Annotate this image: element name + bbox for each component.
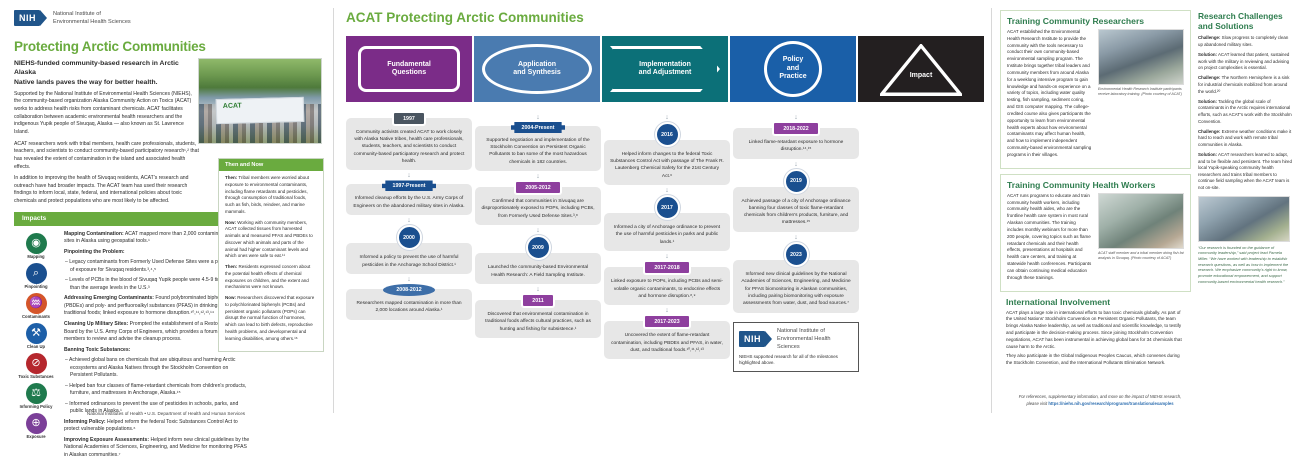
impact-icon-label: Informing Policy	[14, 404, 58, 409]
challenge-solution-entry: Challenge: Slow progress to completely c…	[1198, 35, 1293, 48]
impact-icon-item: ⌕Pinpointing	[14, 263, 58, 290]
section-title: Training Community Researchers	[1007, 16, 1184, 26]
timeline-arrow-icon: ↓	[536, 114, 540, 121]
timeline-column: ↓2018-2022Linked flame-retardant exposur…	[733, 112, 859, 372]
photo-caption: ACAT staff member and a tribal member do…	[1098, 251, 1184, 261]
impact-entry-text: – Levels of PCBs in the blood of Sivuqaq…	[65, 277, 242, 291]
then-now-entry: Now: Working with community members, ACA…	[225, 220, 317, 261]
then-now-label: Then:	[225, 175, 237, 180]
page-title: Protecting Arctic Communities	[14, 39, 324, 54]
impact-icon-item: ◉Mapping	[14, 233, 58, 260]
pamela-miller-photo	[1198, 196, 1290, 242]
nih-support-text: NIEHS supported research for all of the …	[739, 354, 853, 367]
section-body: ACAT plays a large role in international…	[1006, 310, 1185, 351]
timeline-arrow-icon: ↓	[407, 217, 411, 224]
cs-label: Challenge:	[1198, 35, 1220, 40]
process-flow-diagram: FundamentalQuestionsApplicationand Synth…	[346, 36, 988, 102]
nih-logo-line1: National Institute of	[53, 11, 101, 17]
timeline-arrow-icon: ↓	[665, 114, 669, 121]
nih-logo: NIHNational Institute ofEnvironmental He…	[739, 327, 853, 351]
impact-icon-item: ♒Contaminants	[14, 293, 58, 320]
acat-group-photo	[198, 58, 322, 144]
timeline-column: ↓2016Helped inform changes to the federa…	[604, 112, 730, 372]
timeline-year-badge[interactable]: 1997	[393, 112, 425, 125]
impact-entry-heading: Improving Exposure Assessments:	[64, 437, 149, 443]
flow-stage-impact[interactable]: Impact	[858, 36, 984, 102]
training-community-researchers-card: Training Community Researchers ACAT esta…	[1000, 10, 1191, 169]
then-now-text: Researchers discovered that exposure to …	[225, 295, 314, 341]
infographic-page: NIH National Institute of Environmental …	[0, 0, 1300, 421]
timeline-column: 1997Community activists created ACAT to …	[346, 112, 472, 372]
challenge-solution-entry: Challenge: The Northern Hemisphere is a …	[1198, 75, 1293, 95]
flow-stage-label: FundamentalQuestions	[387, 61, 431, 78]
timeline-arrow-icon: ↓	[794, 161, 798, 168]
closing-line1: For references, supplementary informatio…	[1019, 394, 1181, 399]
section-photo-col: Environmental Health Research Institute …	[1098, 29, 1184, 162]
flow-stage-fundamental[interactable]: FundamentalQuestions	[346, 36, 472, 102]
then-now-entry: Then: Residents expressed concern about …	[225, 264, 317, 291]
timeline-year-badge[interactable]: 2019	[784, 169, 809, 194]
impact-entry-text: – Achieved global bans on chemicals that…	[65, 357, 235, 378]
timeline-year-badge[interactable]: 2017-2023	[644, 315, 689, 328]
impact-entry-text: – Helped ban four classes of flame-retar…	[65, 383, 246, 397]
impact-entry: – Achieved global bans on chemicals that…	[64, 357, 252, 380]
flow-stage-implementation[interactable]: Implementationand Adjustment	[602, 36, 728, 102]
cs-label: Solution:	[1198, 52, 1217, 57]
section-text-col: ACAT runs programs to educate and train …	[1007, 193, 1093, 285]
timeline-arrow-icon: ↓	[665, 253, 669, 260]
impact-icon-label: Pinpointing	[14, 284, 58, 289]
flow-stage-label: Implementationand Adjustment	[639, 61, 692, 78]
contaminants-icon: ♒	[26, 293, 47, 314]
timeline-year-badge[interactable]: 2011	[522, 294, 554, 307]
impact-icon-label: Contaminants	[14, 314, 58, 319]
pinpointing-icon: ⌕	[26, 263, 47, 284]
timeline-arrow-icon: ↓	[536, 227, 540, 234]
timeline-year-badge[interactable]: 2017-2018	[644, 261, 689, 274]
informing-policy-icon: ⚖	[26, 383, 47, 404]
nih-mark: NIH	[14, 10, 40, 26]
timeline-arrow-icon: ↓	[794, 114, 798, 121]
training-community-health-workers-card: Training Community Health Workers ACAT r…	[1000, 174, 1191, 292]
section-flow: ACAT runs programs to educate and train …	[1007, 193, 1184, 285]
section-body: ACAT established the Environmental Healt…	[1007, 29, 1093, 159]
left-lede-line1: NIEHS-funded community-based research in…	[14, 60, 179, 76]
far-title-line1: Research Challenges	[1198, 11, 1283, 21]
then-and-now-body: Then: Tribal members were worried about …	[219, 171, 323, 351]
impact-icon-label: Mapping	[14, 254, 58, 259]
far-panel-title: Research Challenges and Solutions	[1198, 12, 1293, 31]
section-photo-col: ACAT staff member and a tribal member do…	[1098, 193, 1184, 285]
flow-stage-label: Impact	[910, 72, 933, 80]
challenge-solution-entry: Solution: ACAT researchers learned to ad…	[1198, 152, 1293, 192]
impact-entry-heading: Cleaning Up Military Sites:	[64, 321, 128, 327]
impacts-icon-rail: ◉Mapping⌕Pinpointing♒Contaminants⚒Clean …	[14, 231, 58, 463]
timeline-arrow-icon: ↓	[536, 286, 540, 293]
cs-label: Challenge:	[1198, 129, 1220, 134]
mapping-icon: ◉	[26, 233, 47, 254]
timeline-year-badge[interactable]: 1997-Present	[382, 180, 437, 191]
cs-label: Challenge:	[1198, 75, 1220, 80]
left-panel: NIH National Institute of Environmental …	[0, 0, 332, 421]
impact-icon-item: ⊕Exposure	[14, 413, 58, 440]
timeline-year-badge[interactable]: 2017	[655, 195, 680, 220]
left-footer: National Institutes of Health • U.S. Dep…	[0, 411, 332, 416]
closing-note: For references, supplementary informatio…	[1000, 394, 1200, 407]
then-now-text: Residents expressed concern about the po…	[225, 264, 310, 289]
cs-label: Solution:	[1198, 99, 1217, 104]
photo-caption: Environmental Health Research Institute …	[1098, 87, 1184, 97]
cs-label: Solution:	[1198, 152, 1217, 157]
impact-icon-item: ⚒Clean Up	[14, 323, 58, 350]
nih-mark: NIH	[739, 331, 765, 347]
center-panel: ACAT Protecting Arctic Communities Funda…	[332, 0, 994, 421]
flow-stage-application[interactable]: Applicationand Synthesis	[474, 36, 600, 102]
then-now-label: Now:	[225, 220, 236, 225]
timeline-columns: 1997Community activists created ACAT to …	[346, 112, 988, 372]
nih-logo: NIH National Institute of Environmental …	[14, 10, 324, 26]
impact-icon-item: ⊘Toxic Substances	[14, 353, 58, 380]
clean-up-icon: ⚒	[26, 323, 47, 344]
section-body-2: They also participate in the Global Indi…	[1006, 353, 1185, 367]
divider-right	[991, 8, 992, 413]
then-now-entry: Now: Researchers discovered that exposur…	[225, 295, 317, 342]
nih-logo-text: National Institute ofEnvironmental Healt…	[777, 327, 853, 351]
timeline-year-badge[interactable]: 2005-2012	[515, 181, 560, 194]
impact-entry: Improving Exposure Assessments: Helped i…	[64, 437, 252, 460]
challenge-solution-list: Challenge: Slow progress to completely c…	[1198, 35, 1293, 191]
nih-support-note: NIHNational Institute ofEnvironmental He…	[733, 322, 859, 372]
timeline-column: ↓2004-PresentSupported negotiation and i…	[475, 112, 601, 372]
lab-training-photo	[1098, 29, 1184, 85]
timeline-arrow-icon: ↓	[665, 307, 669, 314]
nih-logo-line1: National Institute of	[777, 328, 825, 334]
timeline-year-badge[interactable]: 2016	[655, 122, 680, 147]
closing-line2: please visit	[1026, 401, 1048, 406]
timeline-card[interactable]: Community activists created ACAT to work…	[346, 118, 472, 170]
timeline-year-badge[interactable]: 2004-Present	[511, 122, 566, 133]
far-title-line2: and Solutions	[1198, 21, 1253, 31]
then-now-label: Then:	[225, 264, 237, 269]
flow-stage-policy[interactable]: PolicyandPractice	[730, 36, 856, 102]
then-now-text: Working with community members, ACAT col…	[225, 220, 313, 259]
timeline-arrow-icon: ↓	[536, 173, 540, 180]
timeline-arrow-icon: ↓	[407, 172, 411, 179]
then-and-now-header: Then and Now	[219, 159, 323, 171]
impact-entry: – Helped ban four classes of flame-retar…	[64, 383, 252, 398]
flow-stage-label: PolicyandPractice	[779, 56, 806, 81]
challenge-solution-entry: Challenge: Extreme weather conditions ma…	[1198, 129, 1293, 149]
then-now-entry: Then: Tribal members were worried about …	[225, 175, 317, 216]
pull-quote: “Our research is founded on the guidance…	[1198, 245, 1293, 285]
international-involvement-card: International Involvement ACAT plays a l…	[1000, 297, 1191, 377]
left-paragraph: Supported by the National Institute of E…	[14, 91, 200, 137]
left-paragraph: In addition to improving the health of S…	[14, 175, 200, 206]
flow-stage-label: Applicationand Synthesis	[513, 61, 560, 78]
left-lede: NIEHS-funded community-based research in…	[14, 59, 200, 87]
impact-entry-heading: Pinpointing the Problem:	[64, 249, 125, 255]
challenge-solution-entry: Solution: ACAT learned that patient, sus…	[1198, 52, 1293, 72]
nih-logo-line2: Environmental Health Sciences	[777, 336, 830, 350]
then-now-text: Tribal members were worried about exposu…	[225, 175, 309, 214]
timeline-year-badge[interactable]: 2018-2022	[773, 122, 818, 135]
impact-icon-label: Toxic Substances	[14, 374, 58, 379]
toxic-substances-icon: ⊘	[26, 353, 47, 374]
left-paragraph: ACAT researchers work with tribal member…	[14, 141, 200, 172]
section-title: International Involvement	[1006, 297, 1185, 307]
impact-icon-label: Clean Up	[14, 344, 58, 349]
center-title: ACAT Protecting Arctic Communities	[346, 10, 988, 25]
timeline-year-badge[interactable]: 2009	[526, 235, 551, 260]
research-challenges-panel: Research Challenges and Solutions Challe…	[1196, 0, 1300, 421]
impact-entry: Informing Policy: Helped reform the fede…	[64, 419, 252, 434]
section-body: ACAT runs programs to educate and train …	[1007, 193, 1093, 282]
timeline-year-badge[interactable]: 2000	[397, 225, 422, 250]
left-lede-line2: Native lands paves the way for better he…	[14, 79, 158, 86]
timeline-arrow-icon: ↓	[794, 234, 798, 241]
timeline-arrow-icon: ↓	[665, 187, 669, 194]
impact-icon-item: ⚖Informing Policy	[14, 383, 58, 410]
fish-fat-analysis-photo	[1098, 193, 1184, 249]
then-and-now-box: Then and Now Then: Tribal members were w…	[218, 158, 324, 352]
photo-acat-banner	[216, 96, 304, 123]
impact-entry-heading: Addressing Emerging Contaminants:	[64, 295, 154, 301]
section-title: Training Community Health Workers	[1007, 180, 1184, 190]
challenge-solution-entry: Solution: Tackling the global scale of c…	[1198, 99, 1293, 125]
timeline-card[interactable]: Informed new clinical guidelines by the …	[733, 260, 859, 312]
impact-icon-label: Exposure	[14, 434, 58, 439]
timeline-arrow-icon: ↓	[407, 276, 411, 283]
nih-logo-text: National Institute of Environmental Heal…	[53, 10, 131, 26]
nih-logo-line2: Environmental Health Sciences	[53, 19, 131, 25]
impact-entry-heading: Banning Toxic Substances:	[64, 347, 130, 353]
impact-entry-heading: Mapping Contamination:	[64, 231, 124, 237]
cs-text: ACAT researchers learned to adapt, and t…	[1198, 152, 1292, 190]
triangle-shape	[880, 44, 962, 96]
section-flow: ACAT established the Environmental Healt…	[1007, 29, 1184, 162]
right-panel: Training Community Researchers ACAT esta…	[994, 0, 1196, 421]
then-now-label: Now:	[225, 295, 236, 300]
left-intro: NIEHS-funded community-based research in…	[14, 59, 200, 205]
timeline-year-badge[interactable]: 2023	[784, 242, 809, 267]
niehs-link[interactable]: https://niehs.nih.gov/research/programs/…	[1048, 401, 1173, 406]
section-text-col: ACAT established the Environmental Healt…	[1007, 29, 1093, 162]
impact-entry-heading: Informing Policy:	[64, 419, 106, 425]
